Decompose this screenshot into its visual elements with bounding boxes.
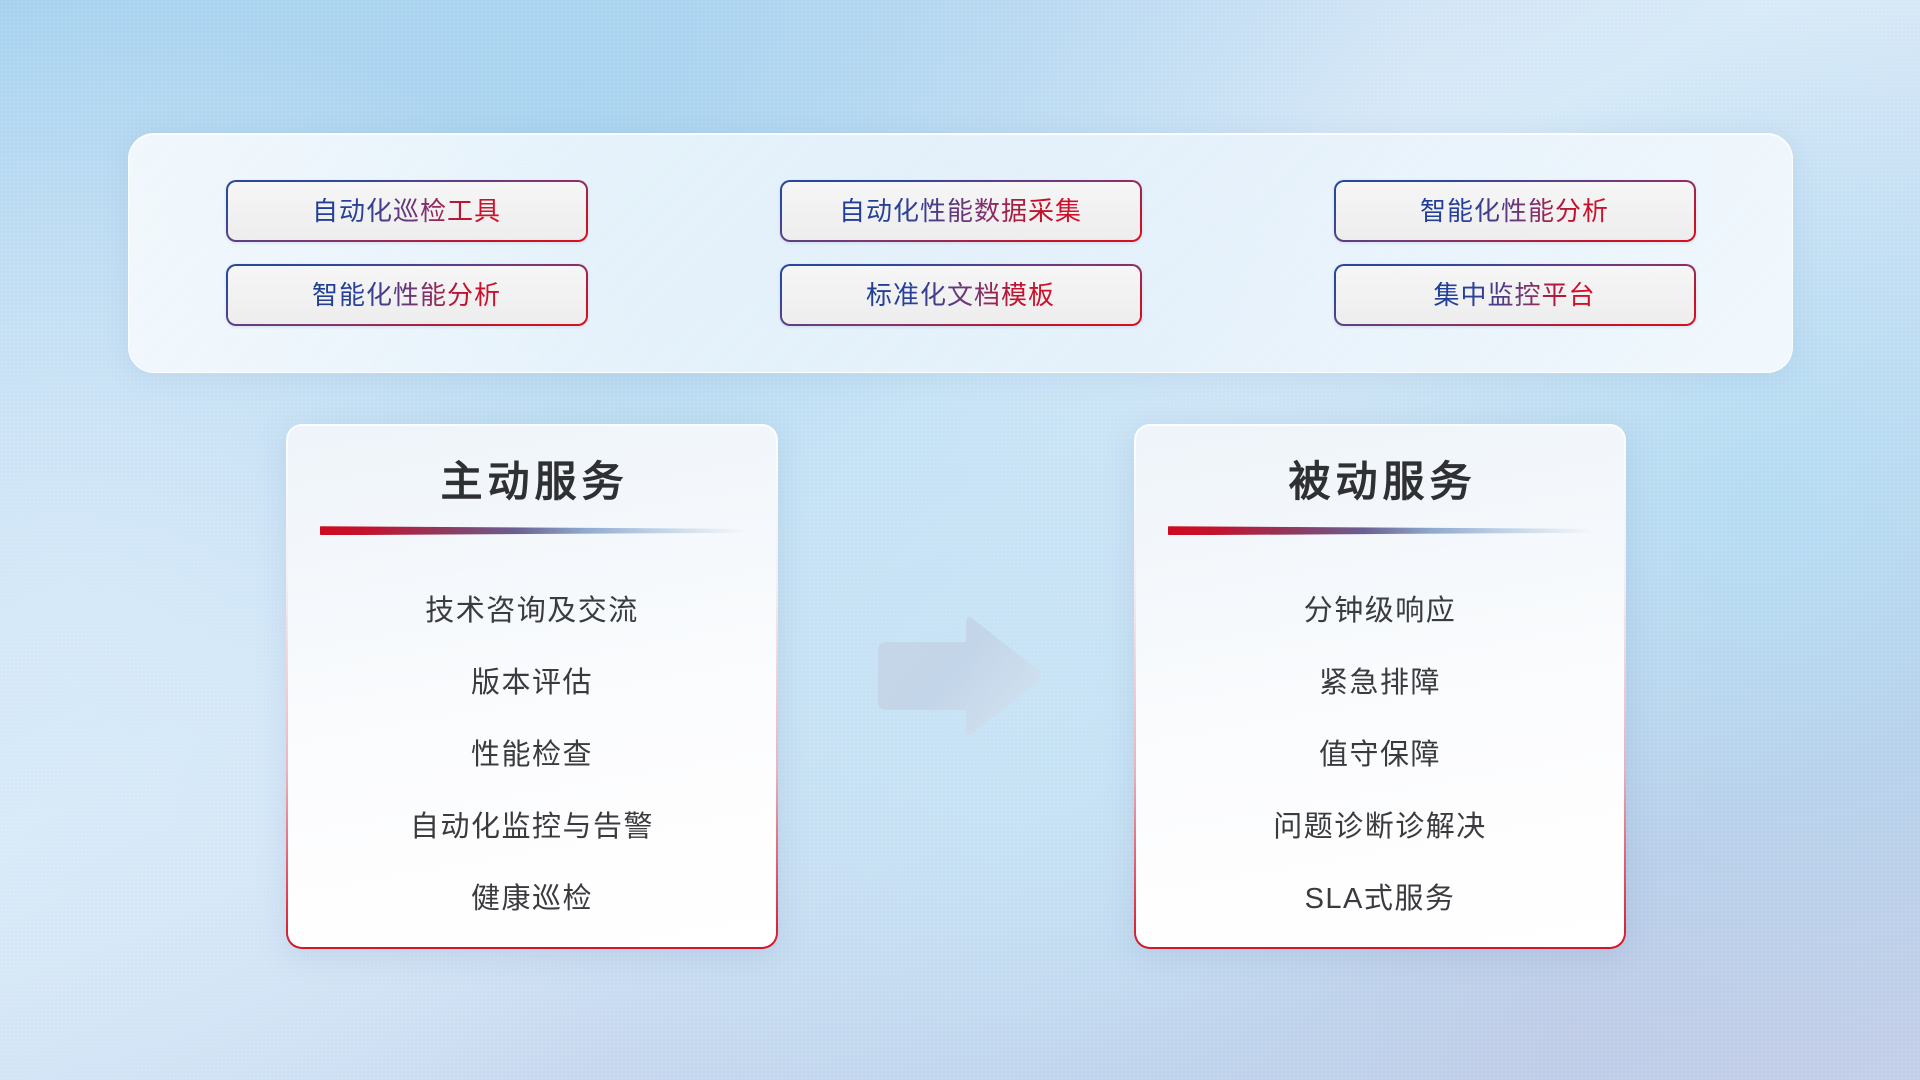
capability-pill-1-label: 自动化巡检工具	[312, 198, 501, 224]
service-card-proactive-divider	[320, 526, 744, 535]
diagram-canvas: 自动化巡检工具 自动化性能数据采集 智能化性能分析 智能化性能分析	[0, 0, 1920, 1080]
capability-pill-2-body: 自动化性能数据采集	[782, 182, 1140, 240]
list-item: 值守保障	[1319, 719, 1441, 791]
list-item: 健康巡检	[471, 863, 593, 935]
capability-pill-1[interactable]: 自动化巡检工具	[226, 180, 588, 242]
list-item: 自动化监控与告警	[410, 791, 654, 863]
list-item: 紧急排障	[1319, 647, 1441, 719]
capability-pill-5-label: 标准化文档模板	[866, 282, 1055, 308]
service-card-proactive-body: 主动服务 技术咨询及交流 版本评估 性能检查 自动化监控与告警 健康巡检	[288, 426, 776, 947]
list-item: 问题诊断诊解决	[1273, 791, 1487, 863]
flow-arrow-right-icon	[874, 616, 1044, 736]
capability-pill-4-body: 智能化性能分析	[228, 266, 586, 324]
capability-pill-4-label: 智能化性能分析	[312, 282, 501, 308]
service-card-reactive[interactable]: 被动服务 分钟级响应 紧急排障 值守保障 问题诊断诊解决 SLA式服务	[1134, 424, 1626, 949]
capability-panel: 自动化巡检工具 自动化性能数据采集 智能化性能分析 智能化性能分析	[128, 133, 1793, 373]
service-card-proactive-list: 技术咨询及交流 版本评估 性能检查 自动化监控与告警 健康巡检	[288, 575, 776, 935]
capability-pill-5[interactable]: 标准化文档模板	[780, 264, 1142, 326]
capability-pill-5-body: 标准化文档模板	[782, 266, 1140, 324]
list-item: 技术咨询及交流	[425, 575, 639, 647]
service-card-reactive-list: 分钟级响应 紧急排障 值守保障 问题诊断诊解决 SLA式服务	[1136, 575, 1624, 935]
capability-pill-3[interactable]: 智能化性能分析	[1334, 180, 1696, 242]
list-item: SLA式服务	[1305, 863, 1456, 935]
capability-pill-grid: 自动化巡检工具 自动化性能数据采集 智能化性能分析 智能化性能分析	[226, 180, 1696, 326]
capability-pill-1-body: 自动化巡检工具	[228, 182, 586, 240]
capability-pill-3-label: 智能化性能分析	[1420, 198, 1609, 224]
service-card-reactive-divider	[1168, 526, 1592, 535]
capability-pill-2[interactable]: 自动化性能数据采集	[780, 180, 1142, 242]
service-card-proactive[interactable]: 主动服务 技术咨询及交流 版本评估 性能检查 自动化监控与告警 健康巡检	[286, 424, 778, 949]
list-item: 分钟级响应	[1304, 575, 1457, 647]
capability-pill-2-label: 自动化性能数据采集	[839, 198, 1082, 224]
list-item: 版本评估	[471, 647, 593, 719]
service-card-reactive-title: 被动服务	[1283, 458, 1476, 506]
capability-pill-3-body: 智能化性能分析	[1336, 182, 1694, 240]
service-card-reactive-body: 被动服务 分钟级响应 紧急排障 值守保障 问题诊断诊解决 SLA式服务	[1136, 426, 1624, 947]
capability-pill-4[interactable]: 智能化性能分析	[226, 264, 588, 326]
list-item: 性能检查	[471, 719, 593, 791]
capability-pill-6-label: 集中监控平台	[1433, 282, 1595, 308]
capability-pill-6-body: 集中监控平台	[1336, 266, 1694, 324]
capability-pill-6[interactable]: 集中监控平台	[1334, 264, 1696, 326]
service-card-proactive-title: 主动服务	[435, 458, 628, 506]
